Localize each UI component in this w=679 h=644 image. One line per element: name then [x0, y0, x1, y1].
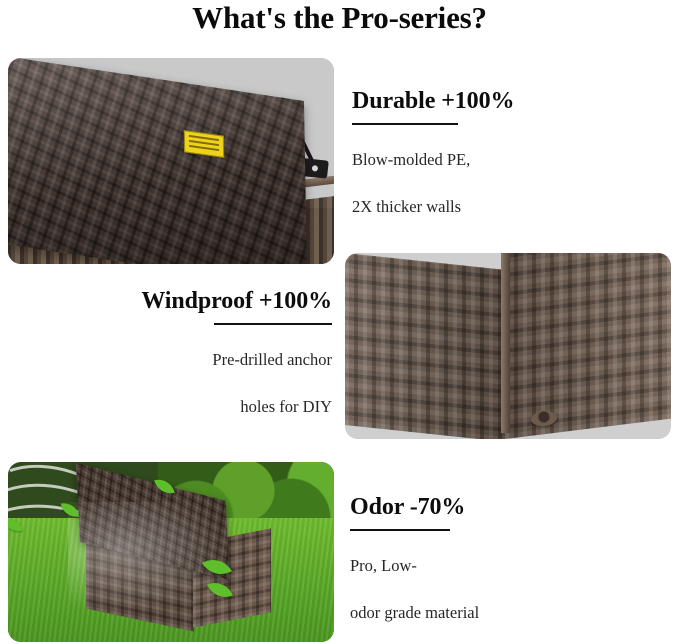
feature-image-durable [8, 58, 334, 264]
feature-body-durable-line2: 2X thicker walls [352, 194, 652, 219]
face-shading [505, 253, 671, 439]
heading-underline [214, 323, 332, 325]
page-title: What's the Pro-series? [0, 0, 679, 38]
heading-underline [352, 123, 458, 125]
infographic-page: What's the Pro-series? [0, 0, 679, 644]
heading-underline [350, 529, 450, 531]
feature-image-windproof [345, 253, 671, 439]
box-corner-edge [501, 253, 510, 433]
feature-heading-durable: Durable +100% [352, 86, 652, 116]
feature-heading-windproof: Windproof +100% [30, 286, 332, 316]
face-shading [345, 253, 505, 439]
box-left-face [345, 253, 505, 439]
feature-text-durable: Durable +100% Blow-molded PE, 2X thicker… [352, 86, 652, 219]
feature-text-odor: Odor -70% Pro, Low- odor grade material [350, 492, 650, 625]
feature-body-windproof-line2: holes for DIY [30, 394, 332, 419]
feature-text-windproof: Windproof +100% Pre-drilled anchor holes… [30, 286, 332, 419]
feature-heading-odor: Odor -70% [350, 492, 650, 522]
feature-body-odor-line1: Pro, Low- [350, 553, 650, 578]
feature-image-odor [8, 462, 334, 642]
feature-body-durable-line1: Blow-molded PE, [352, 147, 652, 172]
feature-body-odor-line2: odor grade material [350, 600, 650, 625]
box-right-face [505, 253, 671, 439]
feature-body-windproof-line1: Pre-drilled anchor [30, 347, 332, 372]
